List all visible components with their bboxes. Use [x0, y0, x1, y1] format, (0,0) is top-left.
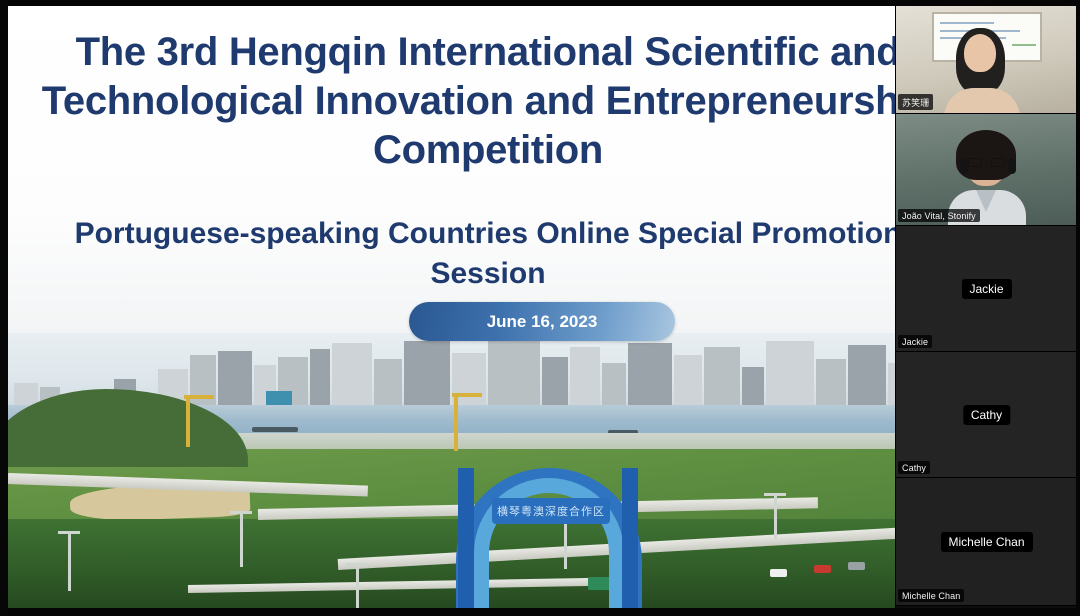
vehicle-white	[770, 569, 787, 577]
participant-name-center-5: Michelle Chan	[940, 532, 1032, 552]
lamp-post-2	[240, 511, 243, 567]
arch-inscription: 横琴粤澳深度合作区	[492, 498, 610, 524]
headset-earpiece-left	[960, 158, 968, 174]
participant-name-corner-5: Michelle Chan	[898, 589, 964, 602]
lamp-post-5	[356, 563, 359, 608]
lamp-post-1	[68, 531, 71, 591]
participant-name-corner-4: Cathy	[898, 461, 930, 474]
letterbox-top	[0, 0, 1080, 6]
vehicle-grey	[848, 562, 865, 570]
vehicle-red	[814, 565, 831, 573]
letterbox-left	[0, 0, 8, 616]
letterbox-right	[1076, 0, 1080, 616]
participant-tile-4[interactable]: Cathy Cathy	[896, 352, 1077, 478]
participant-video-panel[interactable]: 苏笑珊 João Vital, Stonify Jackie Jackie Ca…	[895, 6, 1076, 608]
participant-name-center-4: Cathy	[963, 405, 1010, 425]
participant-tile-1[interactable]: 苏笑珊	[896, 6, 1077, 114]
construction-crane-1	[186, 395, 190, 447]
avatar-face	[964, 34, 996, 72]
participant-name-corner-3: Jackie	[898, 335, 932, 348]
slide-date-badge: June 16, 2023	[409, 302, 675, 341]
participant-tile-5[interactable]: Michelle Chan Michelle Chan	[896, 478, 1077, 606]
avatar-body	[944, 88, 1020, 114]
glasses-icon	[968, 158, 1005, 167]
construction-crane-2	[454, 393, 458, 451]
participant-tile-2[interactable]: João Vital, Stonify	[896, 114, 1077, 226]
hengqin-arch-landmark: 横琴粤澳深度合作区	[448, 468, 648, 608]
headset-earpiece-right	[1008, 158, 1016, 174]
slide-main-title: The 3rd Hengqin International Scientific…	[8, 28, 968, 175]
letterbox-bottom	[0, 608, 1080, 616]
participant-name-corner-2: João Vital, Stonify	[898, 209, 980, 222]
lamp-post-4	[774, 493, 777, 539]
participant-tile-3[interactable]: Jackie Jackie	[896, 226, 1077, 352]
participant-name-corner-1: 苏笑珊	[898, 94, 933, 110]
video-conference-screen: The 3rd Hengqin International Scientific…	[0, 0, 1080, 616]
participant-name-center-3: Jackie	[961, 279, 1011, 299]
slide-sub-title: Portuguese-speaking Countries Online Spe…	[8, 214, 968, 294]
title-block: The 3rd Hengqin International Scientific…	[8, 28, 968, 175]
